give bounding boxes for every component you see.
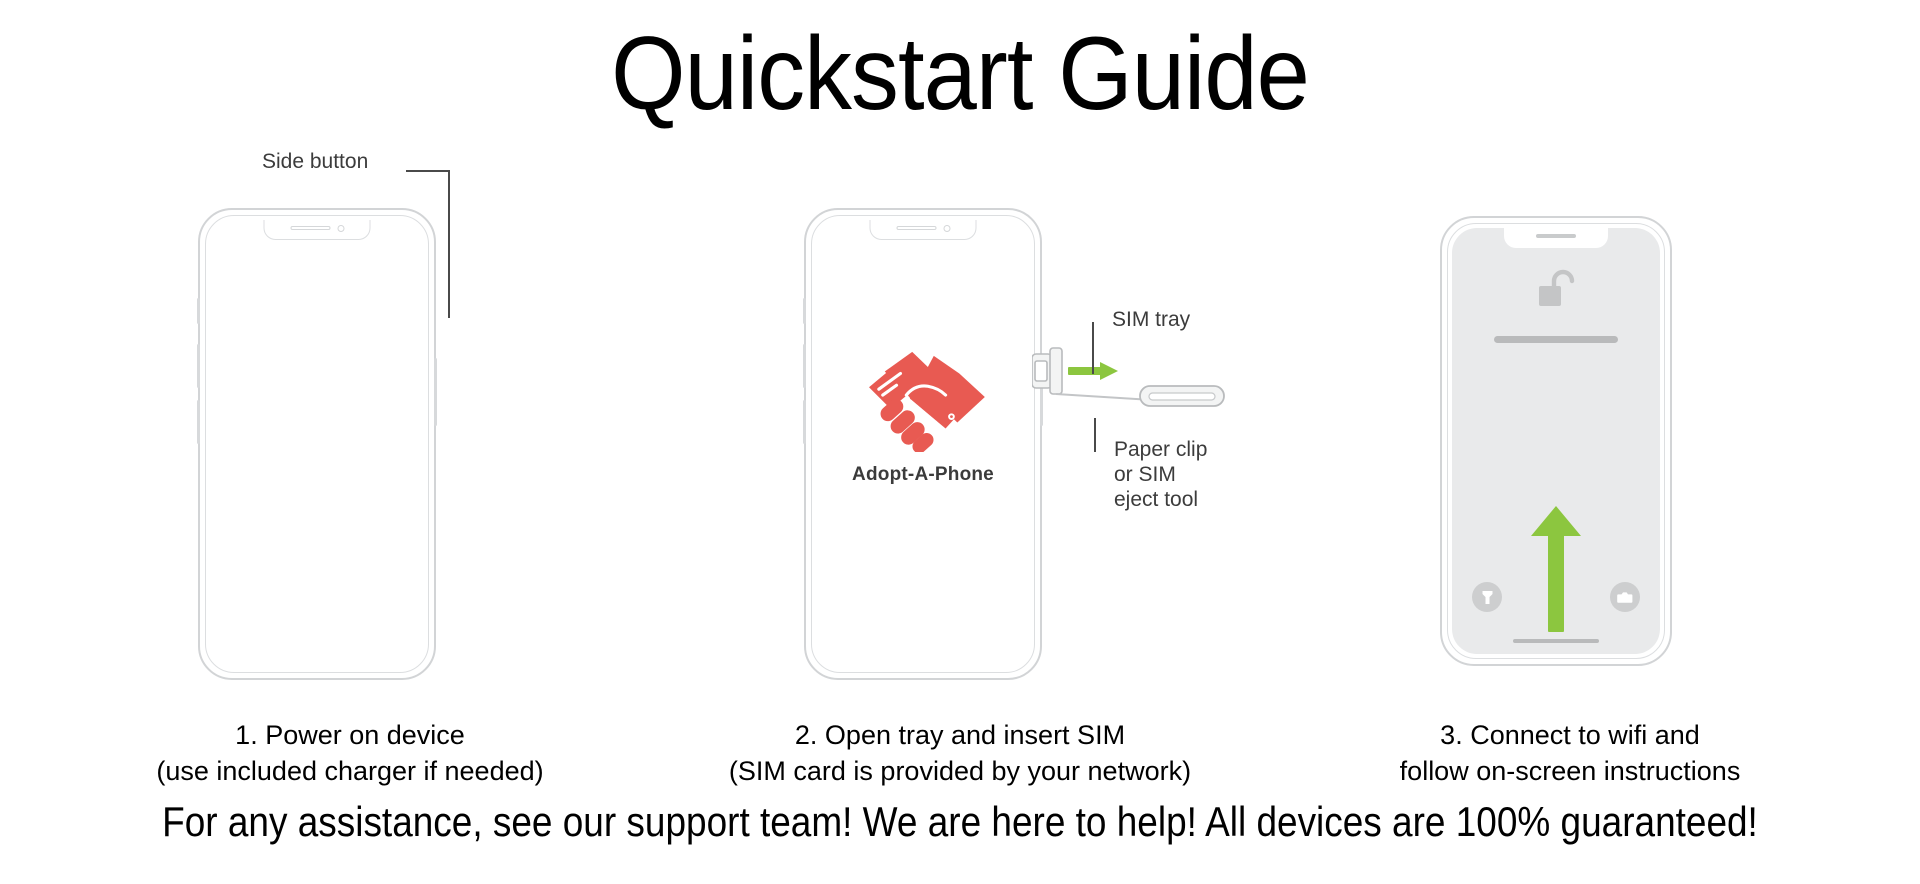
front-camera-icon bbox=[337, 225, 344, 232]
camera-icon bbox=[1617, 591, 1633, 604]
eject-tool-label-line-2: or SIM bbox=[1114, 463, 1207, 488]
front-camera-icon bbox=[943, 225, 950, 232]
volume-down-button bbox=[803, 400, 806, 444]
step-1-caption-line-2: (use included charger if needed) bbox=[70, 754, 630, 790]
handshake-icon bbox=[849, 346, 997, 452]
phone-outline-1 bbox=[198, 208, 436, 680]
flashlight-button[interactable] bbox=[1472, 582, 1502, 612]
phone-notch-1 bbox=[264, 220, 371, 240]
volume-down-button bbox=[197, 400, 200, 444]
quickstart-guide-page: Quickstart Guide Side button bbox=[0, 0, 1920, 884]
step-2: Adopt-A-Phone bbox=[680, 150, 1240, 710]
lock-screen-placeholder-bar bbox=[1494, 336, 1618, 343]
swipe-up-arrow-icon bbox=[1529, 504, 1583, 632]
step-1-illustration: Side button bbox=[70, 150, 630, 710]
volume-up-button bbox=[803, 344, 806, 388]
step-3-illustration bbox=[1290, 150, 1850, 710]
step-1: Side button bbox=[70, 150, 630, 710]
side-power-button bbox=[434, 358, 437, 426]
step-3: 3. Connect to wifi and follow on-screen … bbox=[1290, 150, 1850, 710]
support-footer-text: For any assistance, see our support team… bbox=[115, 798, 1805, 846]
side-button-label: Side button bbox=[262, 150, 368, 174]
sim-tray-arm bbox=[1056, 394, 1152, 400]
phone-inner-bezel-2: Adopt-A-Phone bbox=[811, 215, 1035, 673]
camera-button[interactable] bbox=[1610, 582, 1640, 612]
step-1-caption-line-1: 1. Power on device bbox=[70, 718, 630, 754]
step-2-caption: 2. Open tray and insert SIM (SIM card is… bbox=[680, 718, 1240, 790]
flashlight-icon bbox=[1481, 590, 1494, 605]
silent-switch-button bbox=[197, 298, 200, 324]
volume-up-button bbox=[197, 344, 200, 388]
phone-notch-2 bbox=[870, 220, 977, 240]
step-2-caption-line-2: (SIM card is provided by your network) bbox=[680, 754, 1240, 790]
phone-screen-2: Adopt-A-Phone bbox=[816, 220, 1030, 668]
logo-wordmark: Adopt-A-Phone bbox=[852, 464, 994, 486]
paper-clip-icon bbox=[1140, 386, 1224, 406]
step-2-illustration: Adopt-A-Phone bbox=[680, 150, 1240, 710]
step-2-caption-line-1: 2. Open tray and insert SIM bbox=[680, 718, 1240, 754]
eject-tool-leader bbox=[1094, 418, 1096, 452]
step-3-caption-line-1: 3. Connect to wifi and bbox=[1290, 718, 1850, 754]
eject-tool-label-line-1: Paper clip bbox=[1114, 438, 1207, 463]
phone-inner-bezel-1 bbox=[205, 215, 429, 673]
sim-tray-head bbox=[1050, 348, 1062, 394]
adopt-a-phone-logo: Adopt-A-Phone bbox=[816, 346, 1030, 486]
earpiece-speaker-icon bbox=[896, 226, 936, 230]
side-button-leader-horizontal bbox=[406, 170, 450, 172]
home-indicator bbox=[1513, 639, 1599, 643]
steps-container: Side button bbox=[0, 0, 1920, 884]
phone-screen-1 bbox=[210, 220, 424, 668]
sim-tray-assembly bbox=[1032, 346, 1262, 416]
step-3-caption-line-2: follow on-screen instructions bbox=[1290, 754, 1850, 790]
phone-outline-3 bbox=[1440, 216, 1672, 666]
unlocked-padlock-icon bbox=[1533, 266, 1579, 312]
step-3-caption: 3. Connect to wifi and follow on-screen … bbox=[1290, 718, 1850, 790]
phone-outline-2: Adopt-A-Phone bbox=[804, 208, 1042, 680]
phone-notch-3 bbox=[1504, 228, 1608, 248]
phone-inner-bezel-3 bbox=[1447, 223, 1665, 659]
earpiece-speaker-icon bbox=[290, 226, 330, 230]
step-1-caption: 1. Power on device (use included charger… bbox=[70, 718, 630, 790]
sim-tray-label: SIM tray bbox=[1112, 308, 1190, 332]
eject-tool-label: Paper clip or SIM eject tool bbox=[1114, 438, 1207, 512]
phone-screen-3 bbox=[1452, 228, 1660, 654]
eject-tool-label-line-3: eject tool bbox=[1114, 488, 1207, 513]
sim-tray-leader bbox=[1092, 322, 1094, 374]
earpiece-speaker-icon bbox=[1536, 234, 1576, 238]
side-button-leader-vertical bbox=[448, 170, 450, 318]
silent-switch-button bbox=[803, 298, 806, 324]
